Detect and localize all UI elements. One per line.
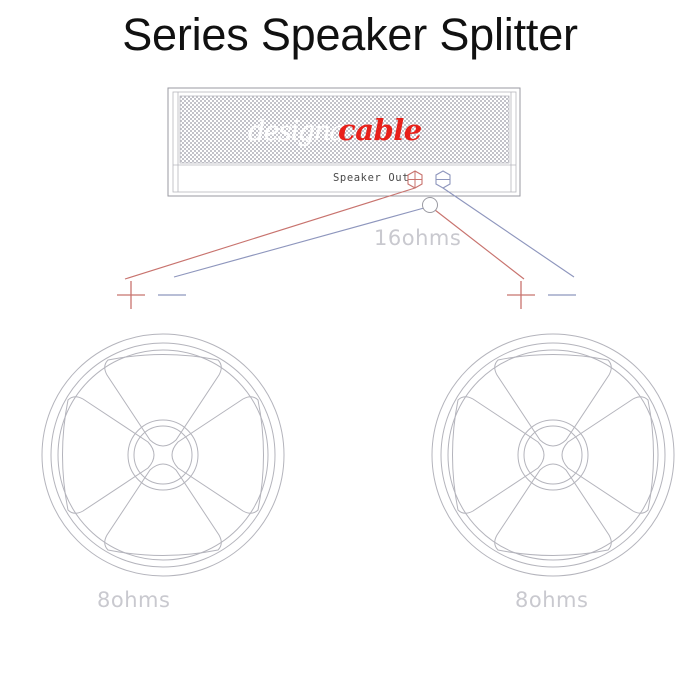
left-speaker-plus-marker	[117, 281, 145, 309]
right-speaker-outer-rim	[432, 334, 674, 576]
right-speaker-inner-rim	[441, 343, 665, 567]
left-speaker-impedance-label: 8ohms	[97, 588, 170, 612]
diagram-canvas: Series Speaker Splitter	[0, 0, 700, 700]
speaker-out-label: Speaker Out	[333, 172, 409, 184]
right-speaker-plus-marker	[507, 281, 535, 309]
wire-amp-minus-to-right-minus	[443, 188, 574, 277]
left-speaker-voicecoil-ring	[128, 420, 198, 490]
left-speaker[interactable]	[42, 334, 284, 576]
right-speaker-voicecoil-ring	[518, 420, 588, 490]
left-speaker-cone-cutouts	[63, 355, 264, 556]
total-impedance-label: 16ohms	[374, 226, 461, 250]
left-speaker-surround	[58, 350, 268, 560]
series-link-node	[423, 198, 438, 213]
wire-amp-plus-to-left-plus	[125, 188, 415, 279]
positive-terminal[interactable]	[408, 171, 422, 188]
right-speaker-impedance-label: 8ohms	[515, 588, 588, 612]
right-speaker-surround	[448, 350, 658, 560]
grille-panel	[180, 96, 509, 163]
negative-terminal[interactable]	[436, 171, 450, 188]
left-speaker-outer-rim	[42, 334, 284, 576]
right-speaker-cone-cutouts	[453, 355, 654, 556]
wire-bundle	[125, 188, 574, 279]
right-speaker[interactable]	[432, 334, 674, 576]
right-speaker-dustcap	[524, 426, 582, 484]
left-speaker-inner-rim	[51, 343, 275, 567]
left-speaker-dustcap	[134, 426, 192, 484]
